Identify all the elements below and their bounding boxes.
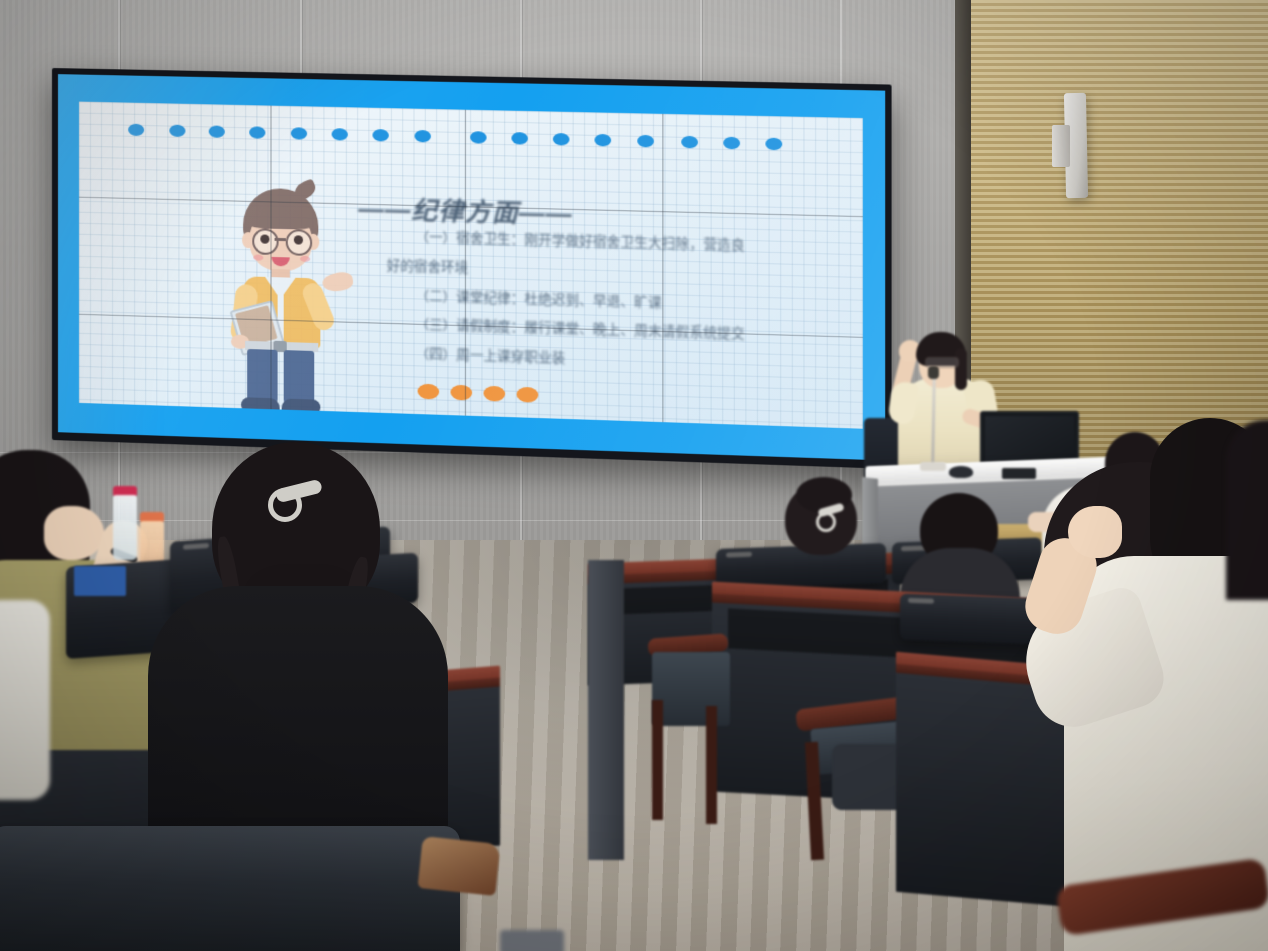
presenter-hair-strand bbox=[955, 348, 967, 390]
computer-mouse bbox=[949, 466, 973, 478]
hair-clip-ring-icon bbox=[816, 512, 836, 532]
chair-back-middle bbox=[900, 594, 1040, 645]
water-bottle-1 bbox=[113, 486, 137, 560]
desk-monitor-recessed bbox=[74, 566, 126, 596]
chair-back-foreground bbox=[0, 826, 460, 951]
slide-body: （一）宿舍卫生：刚开学做好宿舍卫生大扫除，营造良 好的宿舍环境 （二）课堂纪律：… bbox=[387, 224, 839, 384]
screen-surface: ——纪律方面—— （一）宿舍卫生：刚开学做好宿舍卫生大扫除，营造良 好的宿舍环境… bbox=[58, 74, 885, 460]
audience-front-right-hand bbox=[1068, 506, 1122, 558]
microphone-base bbox=[920, 462, 946, 471]
classroom-photo: ——纪律方面—— （一）宿舍卫生：刚开学做好宿舍卫生大扫除，营造良 好的宿舍环境… bbox=[0, 0, 1268, 951]
foreground-seat-left bbox=[0, 600, 50, 800]
wooden-chair-leg-center bbox=[652, 700, 663, 820]
cartoon-boy-illustration bbox=[216, 183, 348, 419]
led-video-wall[interactable]: ——纪律方面—— （一）宿舍卫生：刚开学做好宿舍卫生大扫除，营造良 好的宿舍环境… bbox=[52, 68, 892, 469]
foreground-object-bottom bbox=[500, 930, 564, 951]
wooden-chair-seat-center bbox=[652, 652, 730, 726]
podium-device bbox=[1002, 468, 1036, 479]
wooden-chair-leg-center-2 bbox=[706, 706, 717, 824]
chair-wood-arm-foreground bbox=[417, 836, 500, 896]
podium-side-panel bbox=[862, 477, 878, 553]
desk-end-panel bbox=[588, 560, 624, 860]
slide-canvas: ——纪律方面—— （一）宿舍卫生：刚开学做好宿舍卫生大扫除，营造良 好的宿舍环境… bbox=[79, 101, 863, 428]
audience-left-olive-hands bbox=[44, 506, 104, 560]
microphone-capsule bbox=[928, 366, 939, 379]
speaker-mount-bracket bbox=[1052, 125, 1070, 167]
